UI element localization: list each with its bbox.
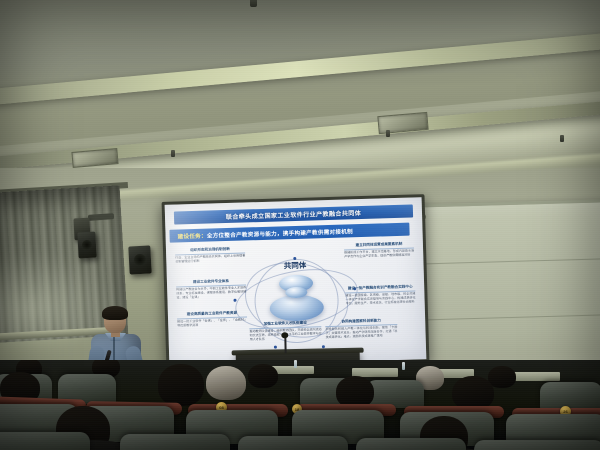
- seat[interactable]: [120, 434, 230, 450]
- slide-subtitle-prefix: 建设任务：: [177, 231, 206, 240]
- ceiling-sprinkler-right: [560, 135, 564, 142]
- ceiling-sprinkler-mid: [386, 130, 390, 137]
- ceiling-light-cove-upper: [0, 28, 600, 107]
- slide-box-right-2: 建设一批产教融合实训产教融合实践中心 建设一批国家级、区域级、省级、地市级、校企…: [345, 284, 416, 306]
- whiteboard: [408, 199, 600, 375]
- slide-box-text: 建设一批国家级、区域级、省级、地市级、校企共建一体化产学联合实训基地与实践中心，…: [345, 293, 415, 307]
- ceiling-sprinkler-top: [250, 0, 257, 7]
- whiteboard-seam-1: [412, 258, 600, 264]
- orbit-node-a: [233, 299, 236, 302]
- wall-speaker-right: [77, 232, 96, 259]
- slide-subtitle-body: 全方位整合产教资源与能力，携手构建产教供需对接机制: [207, 227, 353, 239]
- seat[interactable]: [540, 382, 600, 410]
- audience-head: [206, 366, 246, 400]
- seat[interactable]: [238, 436, 348, 450]
- orbit-node-c: [273, 346, 276, 349]
- seat[interactable]: [474, 440, 600, 450]
- seat[interactable]: [0, 432, 90, 450]
- ceiling: [0, 0, 600, 185]
- slide-box-left-3: 建设高质量的工业软件产教资源 建设一批工业软件「金课」、「金师」、「金教材」等优…: [177, 310, 247, 328]
- wall-speaker-left: [128, 245, 151, 274]
- water-bottle-2: [402, 362, 405, 370]
- slide-box-bottom-2: 协同构建国家科创新能力 积极服务和融入产教一体化与科技创新，聚焦「卡脖子」关键技…: [325, 318, 398, 340]
- whiteboard-seam-2: [414, 314, 600, 320]
- desk-back-4: [512, 372, 560, 381]
- presenter-hair: [102, 306, 128, 320]
- slide-box-left-1: 组织形态和治理机制创新 行业、企业主导的产教融合共同体，组织上采用理事会制管理运…: [175, 246, 245, 264]
- water-bottle-1: [294, 360, 297, 368]
- slide-box-left-2: 建设工业软件专业体系 构建以产教融合为主导，中职工业软件专业人才培养体系，专业标…: [176, 278, 247, 300]
- audience-area: 08 26 18: [0, 360, 600, 450]
- audience-head: [452, 376, 494, 410]
- slide-box-text: 积极服务和融入产教一体化与科技创新，聚焦「卡脖子」关键技术攻关，推动产学研用深度…: [325, 326, 397, 340]
- community-core-label: 共同体: [284, 260, 307, 272]
- slide-box-right-1: 建立共同体运营成果要素机制 搭建形成工作平台，建立示范基地，形成内部高水准产学合…: [344, 241, 414, 259]
- audience-head: [158, 364, 204, 406]
- ceiling-sprinkler-left: [171, 150, 175, 157]
- slide-title: 联合牵头成立国家工业软件行业产教融合共同体: [174, 204, 413, 224]
- lectern-mic-stand: [284, 336, 286, 353]
- audience-head: [248, 364, 278, 388]
- slide-box-text: 搭建形成工作平台，建立示范基地，形成内部高水准产学合作与企业产学生态，促进产教供…: [344, 250, 414, 260]
- slide-box-text: 构建以产教融合为主导，中职工业软件专业人才培养体系，专业标准建设、课程体系建设、…: [176, 287, 246, 301]
- projection-screen[interactable]: 联合牵头成立国家工业软件行业产教融合共同体 建设任务： 全方位整合产教资源与能力…: [162, 194, 430, 370]
- presentation-slide: 联合牵头成立国家工业软件行业产教融合共同体 建设任务： 全方位整合产教资源与能力…: [165, 197, 427, 367]
- auditorium-photo: 联合牵头成立国家工业软件行业产教融合共同体 建设任务： 全方位整合产教资源与能力…: [0, 0, 600, 450]
- slide-body: 共同体 组织形态和治理机制创新 行业、企业主导的产教融合共同体，组织上采用理事会…: [171, 239, 421, 363]
- seat[interactable]: [356, 438, 466, 450]
